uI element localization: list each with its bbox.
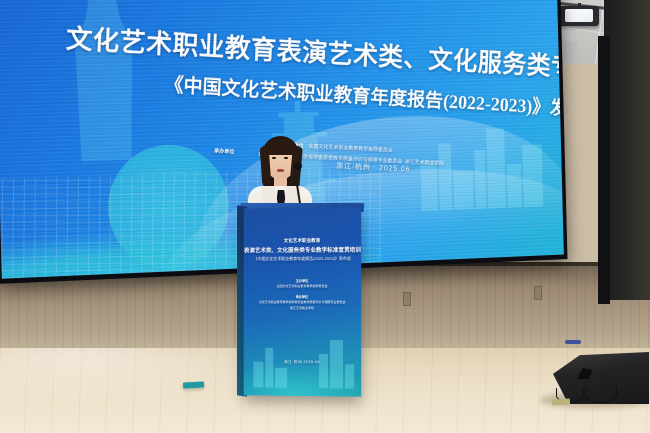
- microphone-head: [294, 162, 302, 170]
- event-location: 浙江·杭州: [336, 161, 371, 171]
- podium-footer: 浙江·杭州 2025.06: [244, 360, 362, 366]
- podium: 文化艺术职业教育 表演艺术类、文化服务类专业教学标准宣贯培训 《中国文化艺术职业…: [244, 207, 362, 396]
- podium-host-value-2: 浙江艺术职业学院: [244, 306, 362, 310]
- podium-organizer-label: 主办单位: [244, 278, 362, 283]
- podium-organizer-value: 全国文化艺术职业教育教学指导委员会: [244, 284, 362, 288]
- cable-tape: [552, 398, 570, 405]
- wall-outlet: [403, 292, 411, 306]
- speaker-cable: [585, 386, 617, 403]
- wall-outlet: [534, 286, 542, 300]
- podium-line-1: 文化艺术职业教育: [244, 238, 362, 245]
- podium-line-3: 《中国文化艺术职业教育年度报告(2022-2023)》发布会: [244, 256, 362, 263]
- podium-host-value-1: 文化艺术职业教育教学指导委员会教学质量评价与保障专业委员会: [244, 300, 362, 304]
- event-stage-photo: 文化艺术职业教育表演艺术类、文化服务类专业教学标准宣贯培训 《中国文化艺术职业教…: [0, 0, 650, 433]
- podium-line-2: 表演艺术类、文化服务类专业教学标准宣贯培训: [244, 246, 362, 255]
- track-light-1: [559, 6, 599, 26]
- event-date: 2025.06: [379, 163, 410, 173]
- floor-marker-tape: [183, 381, 204, 388]
- eye-right: [284, 157, 288, 159]
- screen-right-frame: [598, 36, 610, 304]
- podium-host-label: 承办单位: [244, 294, 362, 299]
- eye-left: [272, 157, 276, 159]
- host-label: 承办单位: [214, 148, 235, 155]
- floor-blue-marker: [565, 340, 581, 344]
- podium-city-graphic: [250, 328, 356, 389]
- right-wall-shadow: [604, 0, 650, 300]
- mouth: [277, 169, 284, 172]
